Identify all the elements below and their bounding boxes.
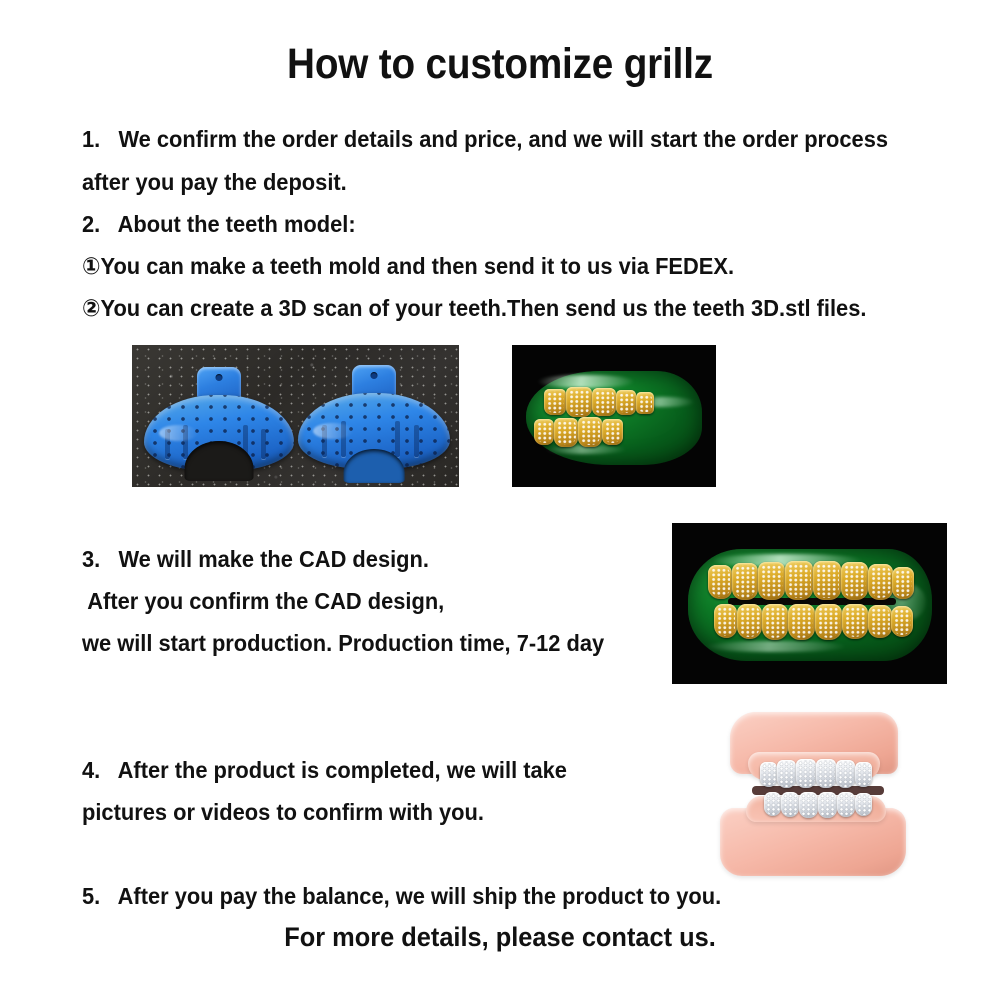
step-4-line-2: pictures or videos to confirm with you. [82, 799, 484, 825]
upper-tooth [636, 392, 654, 414]
upper-tooth [841, 562, 868, 600]
lower-tooth [602, 419, 623, 445]
step-2-substep-1: ①You can make a teeth mold and then send… [82, 253, 734, 279]
upper-tooth [708, 565, 732, 599]
step-3-line-1: 3. We will make the CAD design. [82, 546, 429, 572]
upper-tooth [813, 561, 841, 600]
lower-grillz-tooth [781, 792, 799, 817]
lower-tooth [762, 604, 788, 640]
contact-footer: For more details, please contact us. [30, 922, 970, 953]
lower-grillz-tooth [837, 792, 855, 817]
upper-tooth [616, 390, 636, 415]
gum-highlight [706, 641, 846, 652]
tray-rib [395, 421, 400, 457]
step-5-line-1: 5. After you pay the balance, we will sh… [82, 883, 721, 909]
upper-grillz-tooth [816, 759, 836, 788]
upper-tooth [892, 567, 914, 599]
blue-dental-impression-trays-photo [132, 345, 459, 487]
upper-tooth [758, 562, 785, 600]
step-4-line-1: 4. After the product is completed, we wi… [82, 757, 567, 783]
lower-grillz-tooth [799, 792, 818, 818]
lower-grillz-tooth [855, 793, 872, 816]
lower-tooth [578, 417, 602, 447]
impression-tray-left [144, 367, 294, 479]
lower-grillz-tooth [818, 792, 837, 818]
lower-tooth [868, 605, 892, 638]
lower-tooth [788, 604, 815, 640]
lower-tooth [815, 604, 842, 640]
lower-tooth [737, 604, 762, 639]
upper-tooth [566, 387, 592, 417]
pink-plaster-model-silver-grillz-photo [700, 700, 940, 890]
tray-rib [261, 429, 266, 459]
page-title: How to customize grillz [50, 41, 950, 87]
tray-highlight [313, 423, 353, 439]
step-1-line-1: 1. We confirm the order details and pric… [82, 126, 888, 152]
lower-tooth [534, 419, 554, 445]
upper-tooth [785, 561, 813, 600]
upper-tooth [592, 388, 616, 416]
cad-grillz-front-view [672, 523, 947, 684]
upper-grillz-tooth [855, 762, 872, 787]
impression-tray-right [298, 365, 450, 481]
step-2-substep-2: ②You can create a 3D scan of your teeth.… [82, 295, 866, 321]
upper-grillz-tooth [760, 762, 777, 787]
step-3-line-2: After you confirm the CAD design, [82, 588, 444, 614]
lower-tooth [891, 606, 913, 637]
upper-grillz-tooth [836, 760, 855, 788]
tray-rib [414, 425, 419, 457]
step-1-line-2: after you pay the deposit. [82, 169, 347, 195]
upper-tooth [732, 563, 758, 600]
lower-grillz-tooth [764, 792, 781, 816]
step-3-line-3: we will start production. Production tim… [82, 630, 604, 656]
upper-tooth [544, 389, 566, 415]
lower-tooth [714, 604, 737, 638]
tray-highlight [159, 425, 198, 441]
upper-tooth [868, 564, 893, 600]
lower-tooth [554, 418, 578, 447]
upper-grillz-tooth [796, 759, 816, 788]
upper-grillz-tooth [777, 760, 796, 788]
step-2-line-1: 2. About the teeth model: [82, 211, 356, 237]
lower-tooth [842, 604, 868, 639]
infographic-page: How to customize grillz 1. We confirm th… [0, 0, 1000, 1000]
cad-grillz-side-view [512, 345, 716, 487]
